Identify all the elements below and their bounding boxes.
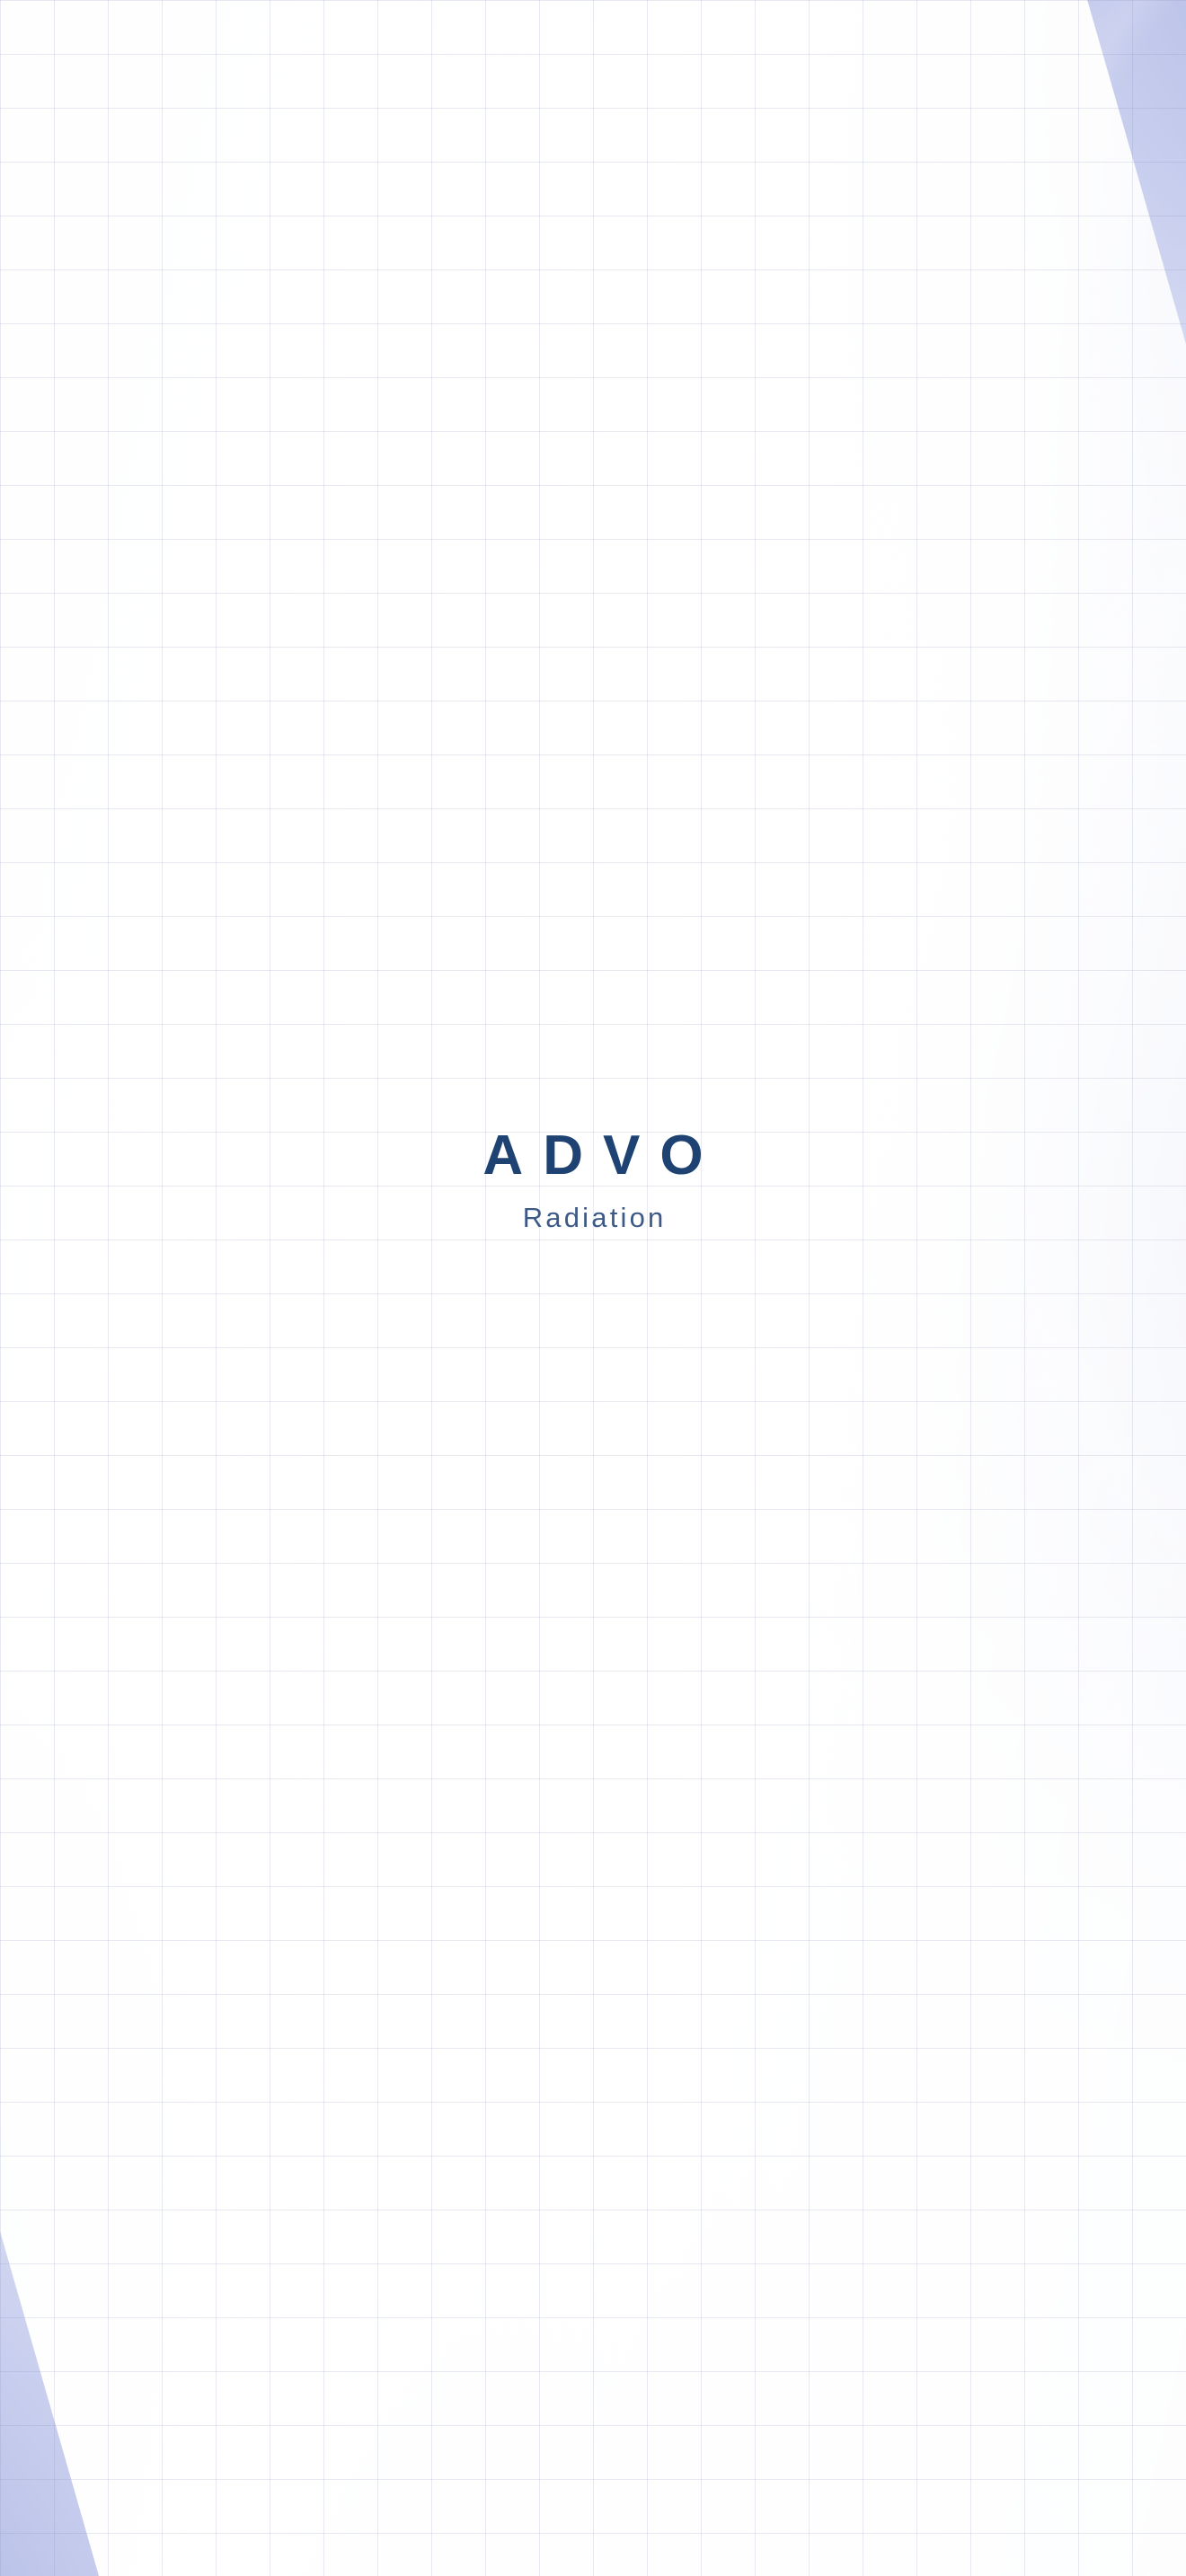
brand-logo: ADVO Radiation [0,1128,1186,1231]
splash-screen: ADVO Radiation [0,0,1186,2576]
brand-tagline: Radiation [520,1204,667,1231]
brand-wordmark: ADVO [463,1128,722,1184]
background-grid-overlay [0,0,1186,2576]
